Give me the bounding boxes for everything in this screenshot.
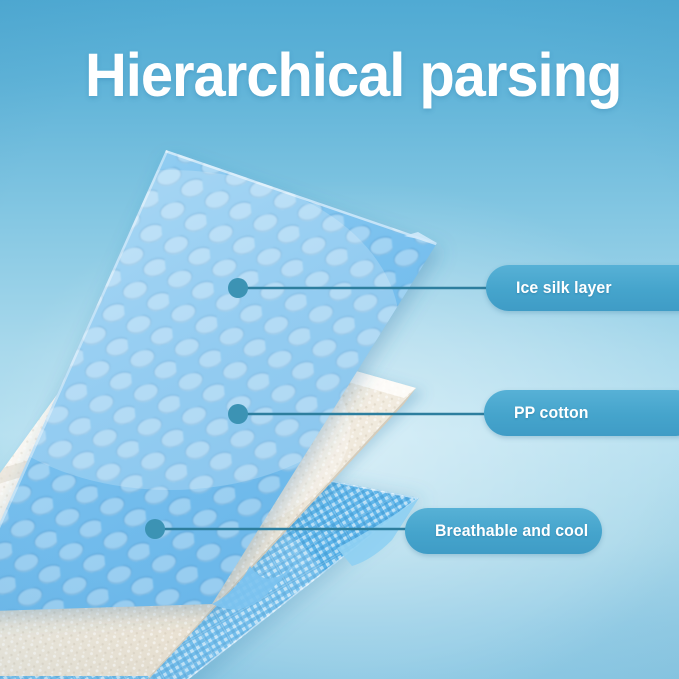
- callout-label: PP cotton: [514, 404, 589, 423]
- callout-pp-cotton[interactable]: PP cotton: [484, 390, 679, 436]
- callout-label: Breathable and cool: [435, 522, 588, 541]
- diagram-canvas: Hierarchical parsing Ice silk layer PP c…: [0, 0, 679, 679]
- callout-label: Ice silk layer: [516, 279, 612, 298]
- callout-ice-silk-layer[interactable]: Ice silk layer: [486, 265, 679, 311]
- callout-breathable-and-cool[interactable]: Breathable and cool: [405, 508, 602, 554]
- page-title: Hierarchical parsing: [85, 45, 621, 106]
